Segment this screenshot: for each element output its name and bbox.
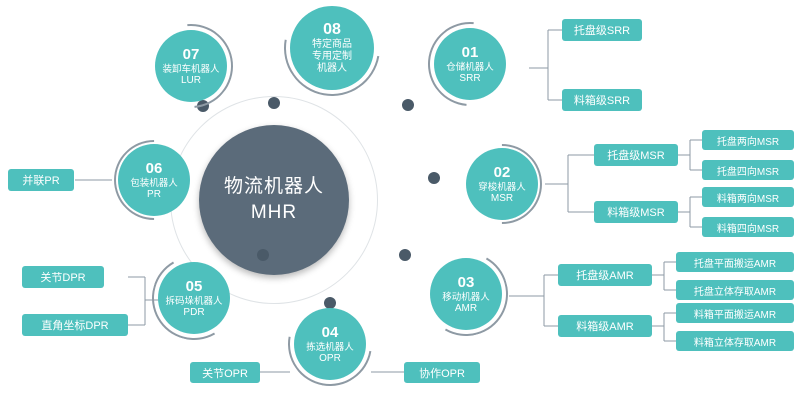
node-01[interactable]: 01 仓储机器人 SRR [434, 28, 506, 100]
box-msr-tote-2way[interactable]: 料箱两向MSR [702, 187, 794, 207]
box-msr-pallet-4way[interactable]: 托盘四向MSR [702, 160, 794, 180]
box-pr-parallel[interactable]: 并联PR [8, 169, 74, 191]
node-01-en: SRR [446, 73, 494, 84]
node-02[interactable]: 02 穿梭机器人 MSR [466, 148, 538, 220]
box-amr-pallet-flat[interactable]: 托盘平面搬运AMR [676, 252, 794, 272]
node-06[interactable]: 06 包装机器人 PR [118, 144, 190, 216]
box-msr-pallet[interactable]: 托盘级MSR [594, 144, 678, 166]
node-04[interactable]: 04 拣选机器人 OPR [294, 308, 366, 380]
node-07-number: 07 [183, 47, 200, 62]
ring-dot-topleft [197, 100, 209, 112]
node-02-number: 02 [494, 165, 511, 180]
box-amr-pallet-3d[interactable]: 托盘立体存取AMR [676, 280, 794, 300]
box-amr-tote[interactable]: 料箱级AMR [558, 315, 652, 337]
node-08-line2: 专用定制 [312, 51, 352, 63]
node-03-caption: 移动机器人 AMR [442, 292, 490, 314]
node-03[interactable]: 03 移动机器人 AMR [430, 258, 502, 330]
node-01-cn: 仓储机器人 [446, 62, 494, 73]
node-07-caption: 装卸车机器人 LUR [162, 64, 219, 86]
box-amr-tote-flat[interactable]: 料箱平面搬运AMR [676, 303, 794, 323]
ring-dot-right [428, 172, 440, 184]
box-amr-pallet[interactable]: 托盘级AMR [558, 264, 652, 286]
node-03-number: 03 [458, 275, 475, 290]
ring-dot-bottomright [399, 249, 411, 261]
node-08-caption: 特定商品 专用定制 机器人 [312, 39, 352, 75]
box-msr-tote-4way[interactable]: 料箱四向MSR [702, 217, 794, 237]
box-pdr-cartesian[interactable]: 直角坐标DPR [22, 314, 128, 336]
node-05-caption: 拆码垛机器人 PDR [165, 296, 222, 318]
box-amr-tote-3d[interactable]: 料箱立体存取AMR [676, 331, 794, 351]
ring-dot-topright [402, 99, 414, 111]
box-opr-collab[interactable]: 协作OPR [404, 362, 480, 383]
node-03-en: AMR [442, 303, 490, 314]
node-08-number: 08 [323, 22, 341, 37]
box-pdr-joint[interactable]: 关节DPR [22, 266, 104, 288]
node-06-number: 06 [146, 161, 163, 176]
center-title-cn: 物流机器人 [224, 174, 324, 200]
node-04-cn: 拣选机器人 [306, 342, 354, 353]
box-msr-tote[interactable]: 料箱级MSR [594, 201, 678, 223]
box-srr-pallet[interactable]: 托盘级SRR [562, 19, 642, 41]
node-07[interactable]: 07 装卸车机器人 LUR [155, 30, 227, 102]
node-04-number: 04 [322, 325, 339, 340]
node-05-en: PDR [165, 307, 222, 318]
node-02-en: MSR [478, 193, 526, 204]
node-05[interactable]: 05 拆码垛机器人 PDR [158, 262, 230, 334]
node-06-en: PR [130, 189, 178, 200]
node-08[interactable]: 08 特定商品 专用定制 机器人 [290, 6, 374, 90]
node-05-cn: 拆码垛机器人 [165, 296, 222, 307]
node-05-number: 05 [186, 279, 203, 294]
center-title-en: MHR [251, 200, 297, 226]
node-02-cn: 穿梭机器人 [478, 182, 526, 193]
center-hub: 物流机器人 MHR [199, 125, 349, 275]
node-02-caption: 穿梭机器人 MSR [478, 182, 526, 204]
node-01-number: 01 [462, 45, 479, 60]
node-04-en: OPR [306, 353, 354, 364]
node-06-caption: 包装机器人 PR [130, 178, 178, 200]
diagram-canvas: 物流机器人 MHR 08 特定商品 专用定制 机器人 07 装卸车机器人 LUR… [0, 0, 800, 400]
ring-dot-bottomleft [257, 249, 269, 261]
node-07-cn: 装卸车机器人 [162, 64, 219, 75]
node-08-line1: 特定商品 [312, 39, 352, 51]
node-07-en: LUR [162, 75, 219, 86]
box-srr-tote[interactable]: 料箱级SRR [562, 89, 642, 111]
node-06-cn: 包装机器人 [130, 178, 178, 189]
box-opr-joint[interactable]: 关节OPR [190, 362, 260, 383]
node-04-caption: 拣选机器人 OPR [306, 342, 354, 364]
node-08-line3: 机器人 [312, 63, 352, 75]
node-01-caption: 仓储机器人 SRR [446, 62, 494, 84]
box-msr-pallet-2way[interactable]: 托盘两向MSR [702, 130, 794, 150]
node-03-cn: 移动机器人 [442, 292, 490, 303]
ring-dot-top [268, 97, 280, 109]
